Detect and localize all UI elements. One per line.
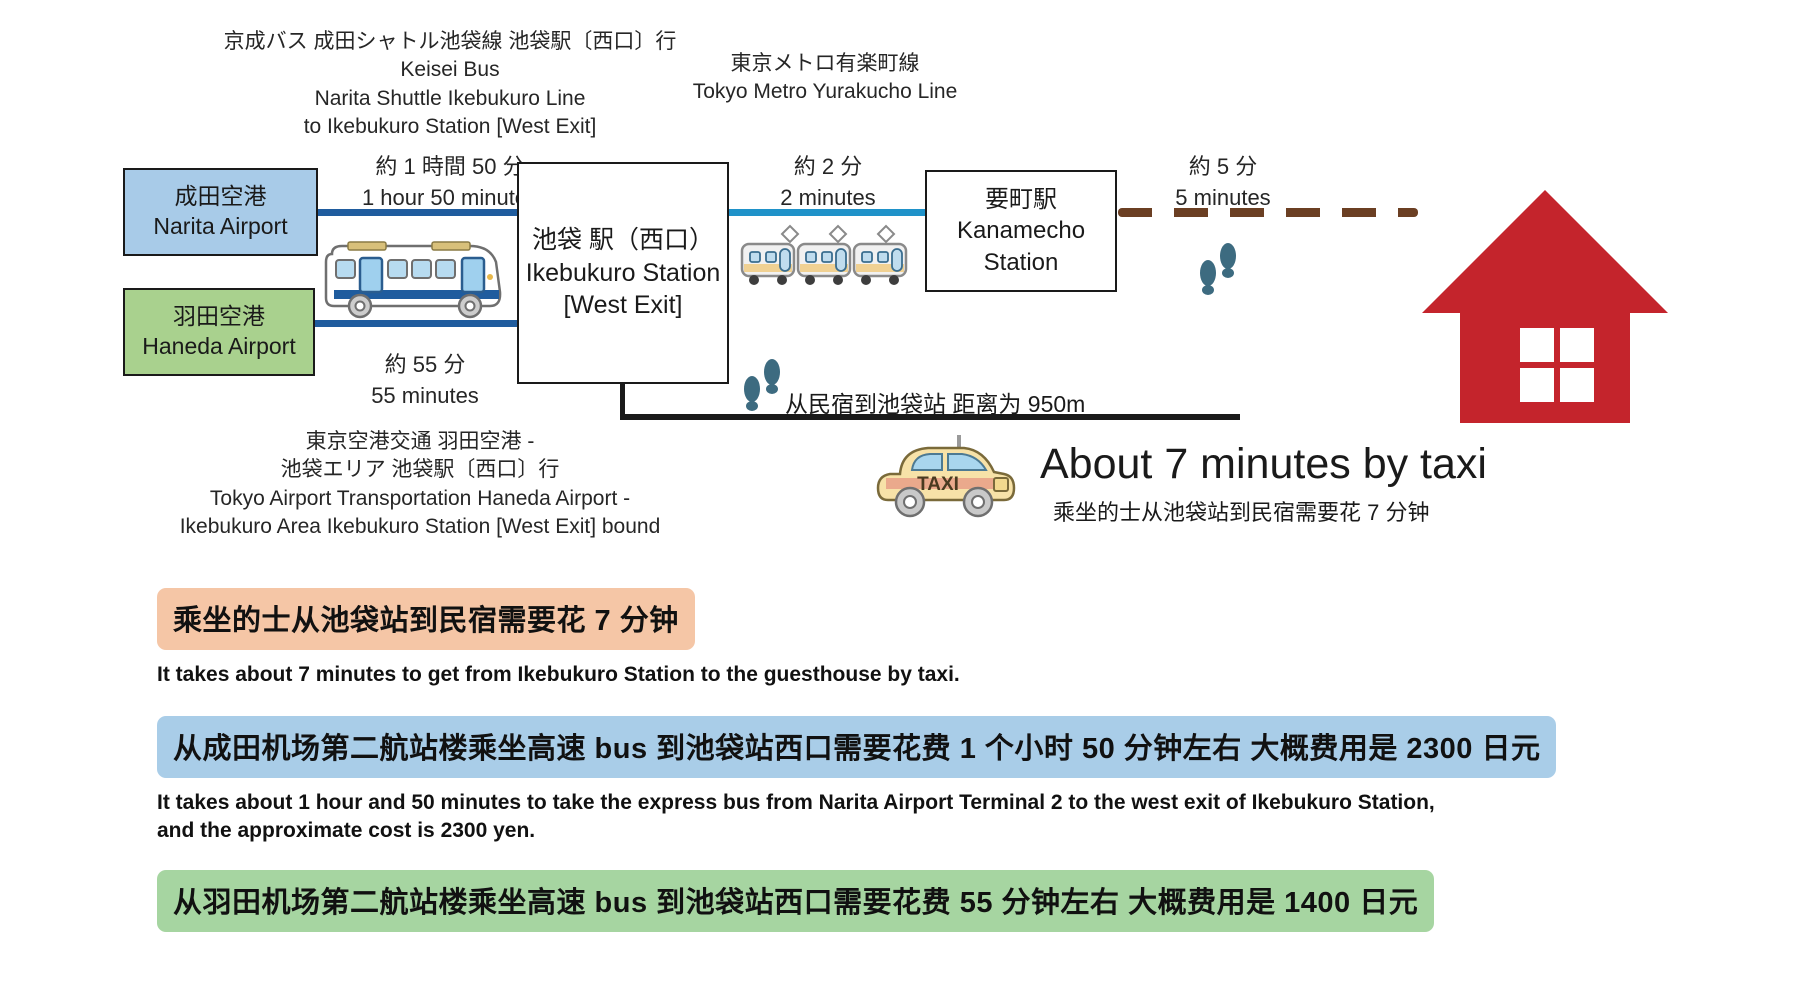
train-icon: [738, 222, 918, 292]
note-narita-english-line2: and the approximate cost is 2300 yen.: [157, 817, 1800, 844]
caption-keisei-en1: Keisei Bus: [190, 56, 710, 84]
ikebukuro-en-label: Ikebukuro Station: [526, 257, 721, 290]
taxi-route-vertical: [620, 380, 625, 418]
narita-jp-label: 成田空港: [175, 182, 267, 212]
note-haneda-highlight: 从羽田机场第二航站楼乘坐高速 bus 到池袋站西口需要花费 55 分钟左右 大概…: [157, 870, 1434, 932]
box-ikebukuro-station[interactable]: 池袋 駅（西口） Ikebukuro Station [West Exit]: [517, 162, 729, 384]
caption-haneda-bus: 東京空港交通 羽田空港 - 池袋エリア 池袋駅〔西口〕行 Tokyo Airpo…: [175, 428, 665, 541]
duration-walk-en: 5 minutes: [1140, 183, 1306, 214]
box-kanamecho-station[interactable]: 要町駅 Kanamecho Station: [925, 170, 1117, 292]
note-taxi: 乘坐的士从池袋站到民宿需要花 7 分钟 It takes about 7 min…: [0, 588, 1800, 688]
narita-en-label: Narita Airport: [153, 212, 287, 242]
duration-haneda-en: 55 minutes: [330, 381, 520, 412]
taxi-subtitle: 乘坐的士从池袋站到民宿需要花 7 分钟: [1053, 495, 1429, 527]
bus-icon: [320, 232, 506, 322]
duration-walk-jp: 約 5 分: [1140, 152, 1306, 183]
haneda-jp-label: 羽田空港: [173, 302, 265, 332]
duration-haneda-jp: 約 55 分: [330, 350, 520, 381]
caption-haneda-jp2: 池袋エリア 池袋駅〔西口〕行: [175, 456, 665, 484]
caption-tokyo-metro: 東京メトロ有楽町線 Tokyo Metro Yurakucho Line: [690, 50, 960, 107]
note-narita: 从成田机场第二航站楼乘坐高速 bus 到池袋站西口需要花费 1 个小时 50 分…: [0, 716, 1800, 844]
footprints-walk-icon: [1196, 240, 1256, 305]
transport-diagram: 京成バス 成田シャトル池袋線 池袋駅〔西口〕行 Keisei Bus Narit…: [0, 0, 1800, 640]
note-taxi-english: It takes about 7 minutes to get from Ike…: [157, 661, 1800, 688]
caption-keisei-bus: 京成バス 成田シャトル池袋線 池袋駅〔西口〕行 Keisei Bus Narit…: [190, 28, 710, 141]
duration-haneda-bus: 約 55 分 55 minutes: [330, 350, 520, 412]
haneda-en-label: Haneda Airport: [142, 332, 295, 362]
kanamecho-en2-label: Station: [984, 247, 1059, 278]
taxi-icon: TAXI: [872, 430, 1020, 530]
walking-distance-note: 从民宿到池袋站 距离为 950m: [785, 385, 1085, 419]
note-taxi-highlight: 乘坐的士从池袋站到民宿需要花 7 分钟: [157, 588, 695, 650]
caption-haneda-jp1: 東京空港交通 羽田空港 -: [175, 428, 665, 456]
caption-keisei-en2: Narita Shuttle Ikebukuro Line: [190, 85, 710, 113]
ikebukuro-jp-label: 池袋 駅（西口）: [532, 224, 714, 257]
caption-haneda-en2: Ikebukuro Area Ikebukuro Station [West E…: [175, 513, 665, 541]
taxi-headline: About 7 minutes by taxi: [1040, 440, 1487, 489]
guesthouse-icon: [1420, 185, 1670, 435]
note-haneda: 从羽田机场第二航站楼乘坐高速 bus 到池袋站西口需要花费 55 分钟左右 大概…: [0, 870, 1800, 932]
duration-walk: 約 5 分 5 minutes: [1140, 152, 1306, 214]
box-narita-airport[interactable]: 成田空港 Narita Airport: [123, 168, 318, 256]
kanamecho-en-label: Kanamecho: [957, 215, 1085, 246]
ikebukuro-exit-label: [West Exit]: [563, 289, 682, 322]
taxi-badge-text: TAXI: [917, 474, 959, 495]
caption-metro-en: Tokyo Metro Yurakucho Line: [690, 78, 960, 106]
duration-metro-jp: 約 2 分: [742, 152, 914, 183]
caption-keisei-en3: to Ikebukuro Station [West Exit]: [190, 113, 710, 141]
caption-keisei-jp: 京成バス 成田シャトル池袋線 池袋駅〔西口〕行: [190, 28, 710, 56]
note-narita-english-line1: It takes about 1 hour and 50 minutes to …: [157, 789, 1800, 816]
kanamecho-jp-label: 要町駅: [985, 184, 1057, 215]
notes-section: 乘坐的士从池袋站到民宿需要花 7 分钟 It takes about 7 min…: [0, 636, 1800, 932]
caption-metro-jp: 東京メトロ有楽町線: [690, 50, 960, 78]
caption-haneda-en1: Tokyo Airport Transportation Haneda Airp…: [175, 485, 665, 513]
note-narita-highlight: 从成田机场第二航站楼乘坐高速 bus 到池袋站西口需要花费 1 个小时 50 分…: [157, 716, 1556, 778]
duration-metro: 約 2 分 2 minutes: [742, 152, 914, 214]
box-haneda-airport[interactable]: 羽田空港 Haneda Airport: [123, 288, 315, 376]
duration-metro-en: 2 minutes: [742, 183, 914, 214]
